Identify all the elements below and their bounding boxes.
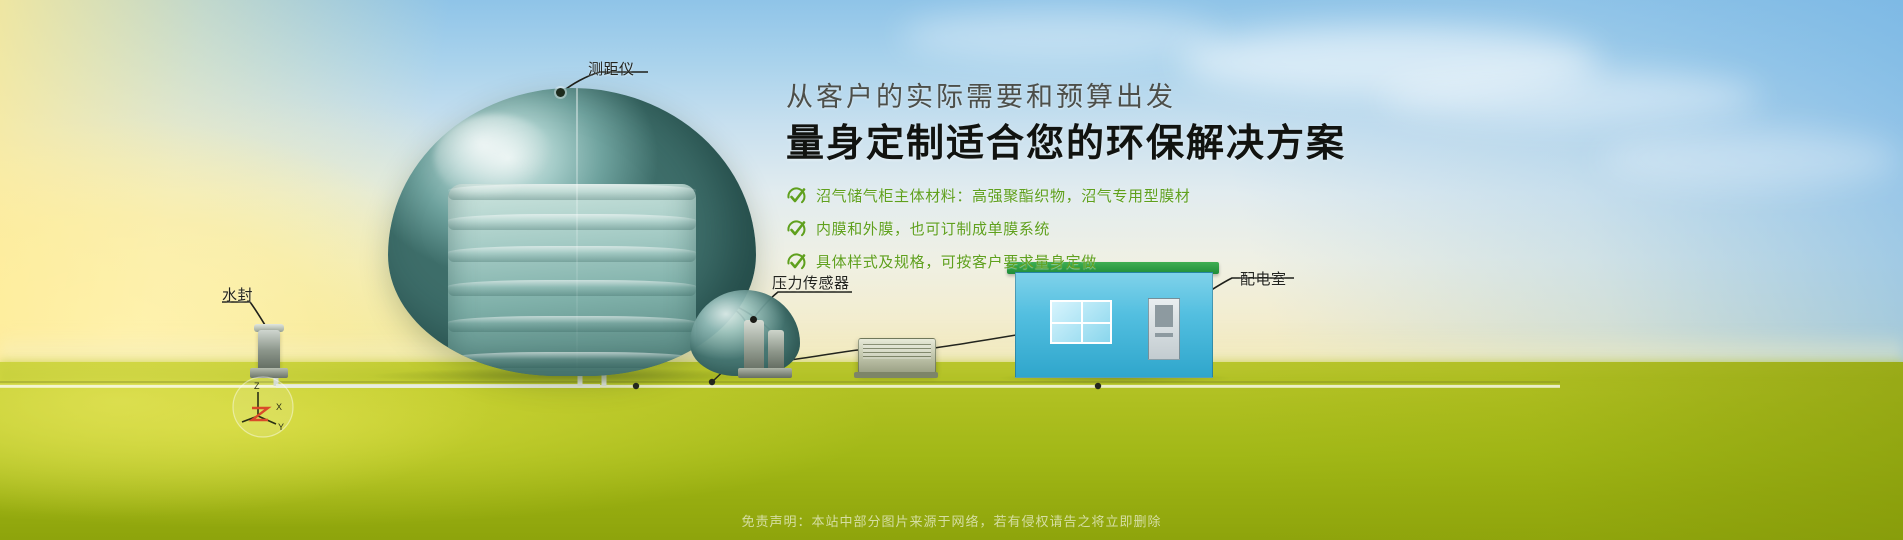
svg-text:Z: Z [254,381,260,391]
compressor-base [854,372,938,378]
power-room-control-panel [1148,298,1180,360]
pressure-sensor-column [744,320,764,372]
pressure-sensor-base [738,368,792,378]
svg-text:Y: Y [278,422,284,432]
banner-title: 量身定制适合您的环保解决方案 [786,121,1486,169]
check-circle-icon [786,220,806,240]
list-item: 沼气储气柜主体材料：高强聚酯织物，沼气专用型膜材 [786,187,1486,207]
banner-copy-block: 从客户的实际需要和预算出发 量身定制适合您的环保解决方案 沼气储气柜主体材料：高… [786,80,1486,286]
bullet-text: 沼气储气柜主体材料：高强聚酯织物，沼气专用型膜材 [816,188,1190,206]
label-rangefinder: 测距仪 [588,58,635,79]
rangefinder-sensor-node [556,88,565,97]
pressure-sensor-node [750,316,757,323]
cloud-decoration [900,10,1220,62]
water-seal-unit [258,330,280,372]
list-item: 具体样式及规格，可按客户要求量身定做 [786,253,1486,273]
label-water-seal: 水封 [222,284,253,305]
disclaimer-text: 免责声明：本站中部分图片来源于网络，若有侵权请告之将立即删除 [0,511,1903,530]
banner-subtitle: 从客户的实际需要和预算出发 [786,80,1486,115]
cloud-decoration [1600,130,1900,188]
check-circle-icon [786,253,806,273]
compressor-grill [863,344,931,359]
bullet-text: 内膜和外膜，也可订制成单膜系统 [816,221,1050,239]
feature-bullet-list: 沼气储气柜主体材料：高强聚酯织物，沼气专用型膜材 内膜和外膜，也可订制成单膜系统… [786,187,1486,273]
banner-stage: Z X Y 测距仪 水封 压力传感器 配电室 从客户的实际需要和预算出发 量身定… [0,0,1903,540]
compressor-unit [858,338,936,374]
axis-gizmo-icon: Z X Y [228,372,298,442]
check-circle-icon [786,187,806,207]
dome-highlight [434,114,554,200]
power-distribution-room [1015,272,1213,378]
dome-inner-membrane [448,184,696,376]
pressure-sensor-column-secondary [768,330,784,372]
power-room-window [1050,300,1112,344]
svg-text:X: X [276,402,282,412]
list-item: 内膜和外膜，也可订制成单膜系统 [786,220,1486,240]
dome-seam [576,88,578,376]
bullet-text: 具体样式及规格，可按客户要求量身定做 [816,254,1097,272]
